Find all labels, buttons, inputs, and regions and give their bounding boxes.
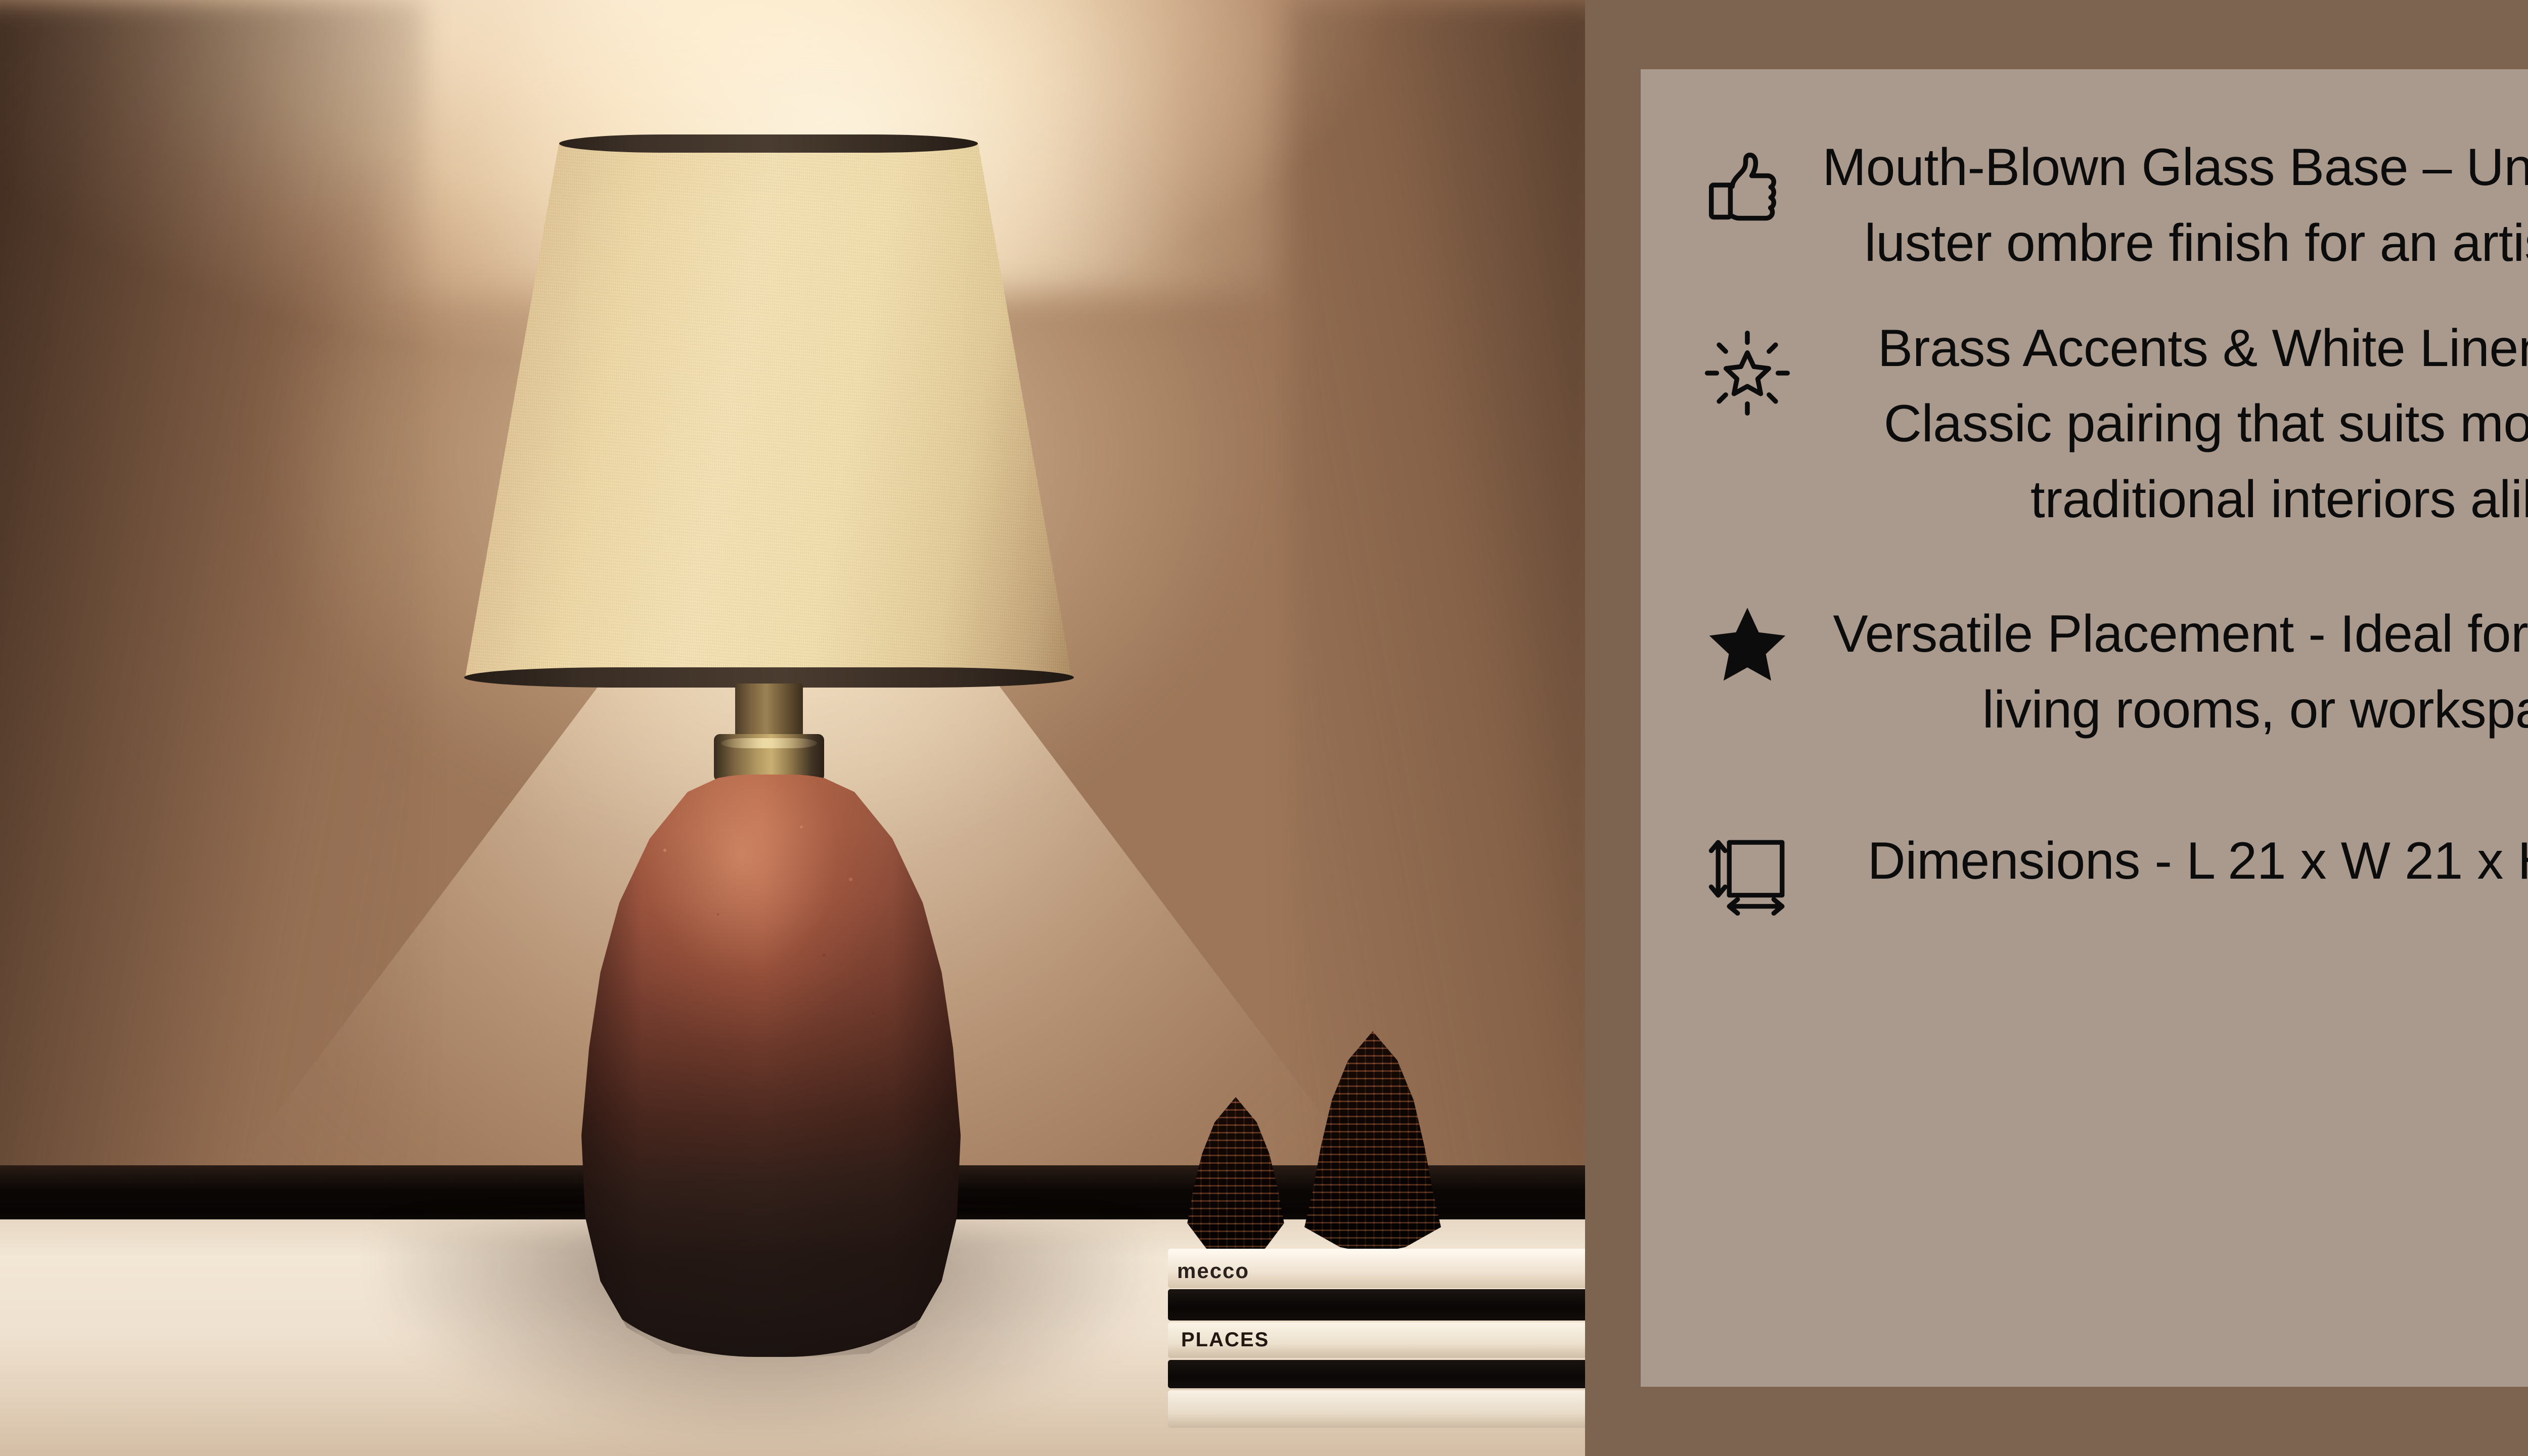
- feature-panel-frame: Mouth-Blown Glass Base – Unique smoke lu…: [1585, 0, 2528, 1456]
- feature-text: Brass Accents & White Linen Shade - Clas…: [1811, 311, 2528, 538]
- table-lamp: [425, 121, 1112, 1345]
- book-5: [1168, 1390, 1585, 1428]
- brass-collar-highlight: [721, 738, 817, 748]
- feature-text: Dimensions - L 21 x W 21 x H 62.5 cm.: [1811, 824, 2528, 899]
- book-1-title: mecco: [1177, 1259, 1249, 1283]
- feature-text: Mouth-Blown Glass Base – Unique smoke lu…: [1811, 130, 2528, 282]
- feature-item-dimensions: Dimensions - L 21 x W 21 x H 62.5 cm.: [1684, 824, 2528, 922]
- wall-shadow-right: [1292, 0, 1585, 1208]
- book-4: [1168, 1360, 1585, 1388]
- lampshade-top-trim: [559, 134, 978, 153]
- star-filled-icon: [1684, 597, 1811, 689]
- book-3-title: PLACES: [1181, 1329, 1269, 1351]
- feature-item-versatile-placement: Versatile Placement - Ideal for bedrooms…: [1684, 597, 2528, 748]
- product-photo: mecco PLACES: [0, 0, 1585, 1456]
- book-stack: mecco PLACES: [1168, 1249, 1585, 1456]
- thumbs-up-icon: [1684, 130, 1811, 241]
- feature-text: Versatile Placement - Ideal for bedrooms…: [1811, 597, 2528, 748]
- feature-item-brass-accents-linen-shade: Brass Accents & White Linen Shade - Clas…: [1684, 311, 2528, 538]
- lampshade-linen-texture: [465, 142, 1072, 677]
- dimensions-icon: [1684, 824, 1811, 922]
- product-feature-banner: mecco PLACES Mouth-Blown Glass Base – Un…: [0, 0, 2528, 1456]
- shining-star-icon: [1684, 311, 1811, 418]
- book-2: [1168, 1289, 1585, 1321]
- feature-card: Mouth-Blown Glass Base – Unique smoke lu…: [1641, 69, 2528, 1387]
- feature-item-mouth-blown-glass-base: Mouth-Blown Glass Base – Unique smoke lu…: [1684, 130, 2528, 282]
